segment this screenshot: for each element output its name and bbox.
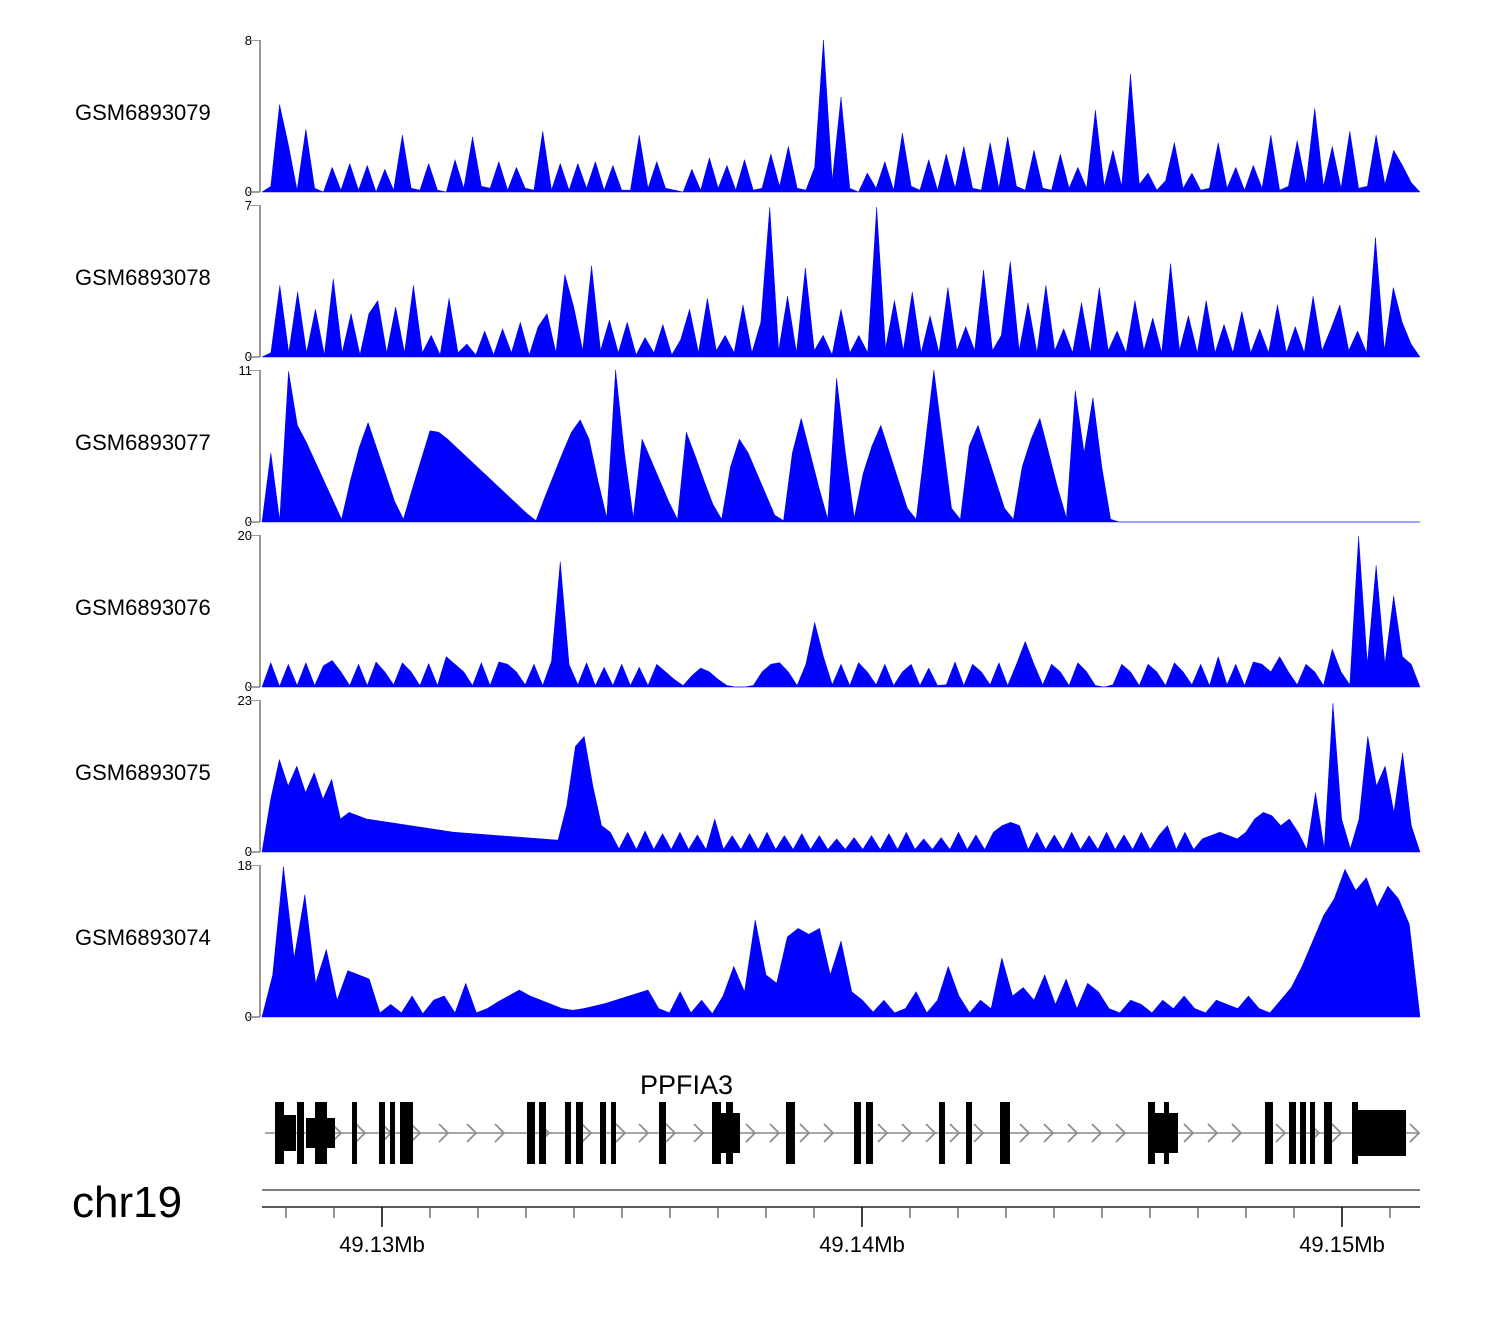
- coverage-area-GSM6893074: [262, 867, 1420, 1017]
- gene-exon-block: [1300, 1102, 1306, 1164]
- gene-exon-block: [352, 1102, 357, 1164]
- gene-exon-block: [390, 1102, 395, 1164]
- gene-exon-block: [284, 1115, 296, 1151]
- gene-exon-block: [576, 1102, 583, 1164]
- coverage-plot-GSM6893077: [0, 370, 1500, 534]
- coverage-plot-GSM6893075: [0, 700, 1500, 864]
- y-axis-bracket: [248, 535, 260, 687]
- gene-exon-block: [565, 1102, 571, 1164]
- gene-exon-block: [966, 1102, 972, 1164]
- y-axis-bracket: [248, 700, 260, 852]
- coverage-track-GSM6893078: GSM689307870: [0, 205, 1500, 357]
- gene-exon-block: [275, 1102, 284, 1164]
- coverage-area-GSM6893075: [262, 703, 1420, 852]
- coverage-plot-GSM6893074: [0, 865, 1500, 1029]
- gene-exon-block: [306, 1118, 315, 1148]
- gene-exon-block: [1289, 1102, 1296, 1164]
- coverage-plot-GSM6893078: [0, 205, 1500, 369]
- gene-exon-block: [1352, 1110, 1406, 1156]
- coverage-area-GSM6893078: [262, 207, 1420, 357]
- gene-exon-block: [297, 1102, 304, 1164]
- gene-exon-block: [315, 1102, 327, 1164]
- gene-exon-block: [1164, 1102, 1169, 1164]
- y-axis-bracket: [248, 865, 260, 1017]
- gene-exon-block: [379, 1102, 385, 1164]
- coverage-plot-GSM6893076: [0, 535, 1500, 699]
- coverage-area-GSM6893079: [262, 40, 1420, 192]
- gene-exon-block: [327, 1118, 335, 1148]
- gene-exon-block: [854, 1102, 861, 1164]
- gene-exon-block: [939, 1102, 945, 1164]
- genome-axis-ruler: [0, 1185, 1500, 1255]
- gene-exon-block: [400, 1102, 413, 1164]
- gene-exon-block: [539, 1102, 546, 1164]
- gene-exon-block: [1000, 1102, 1010, 1164]
- gene-exon-block: [786, 1102, 795, 1164]
- gene-exon-block: [659, 1102, 666, 1164]
- coverage-track-GSM6893075: GSM6893075230: [0, 700, 1500, 852]
- gene-exon-block: [1310, 1102, 1315, 1164]
- gene-exon-block: [866, 1102, 873, 1164]
- coverage-track-GSM6893076: GSM6893076200: [0, 535, 1500, 687]
- y-axis-bracket: [248, 205, 260, 357]
- coverage-plot-GSM6893079: [0, 40, 1500, 204]
- coverage-area-GSM6893077: [262, 370, 1420, 522]
- axis-tick-label: 49.14Mb: [819, 1232, 905, 1258]
- gene-exon-block: [527, 1102, 535, 1164]
- y-axis-bracket: [248, 370, 260, 522]
- coverage-track-GSM6893079: GSM689307980: [0, 40, 1500, 192]
- gene-exon-block: [1148, 1113, 1178, 1153]
- axis-tick-label: 49.13Mb: [339, 1232, 425, 1258]
- gene-exon-block: [600, 1102, 606, 1164]
- coverage-track-GSM6893074: GSM6893074180: [0, 865, 1500, 1017]
- y-axis-bracket: [248, 40, 260, 192]
- gene-exon-block: [611, 1102, 616, 1164]
- coverage-track-GSM6893077: GSM6893077110: [0, 370, 1500, 522]
- axis-tick-label: 49.15Mb: [1299, 1232, 1385, 1258]
- gene-exon-block: [1265, 1102, 1273, 1164]
- gene-exon-block: [726, 1102, 733, 1164]
- coverage-area-GSM6893076: [262, 537, 1420, 687]
- genome-browser-plot: GSM689307980GSM689307870GSM6893077110GSM…: [0, 0, 1500, 1320]
- gene-exon-block: [1324, 1102, 1332, 1164]
